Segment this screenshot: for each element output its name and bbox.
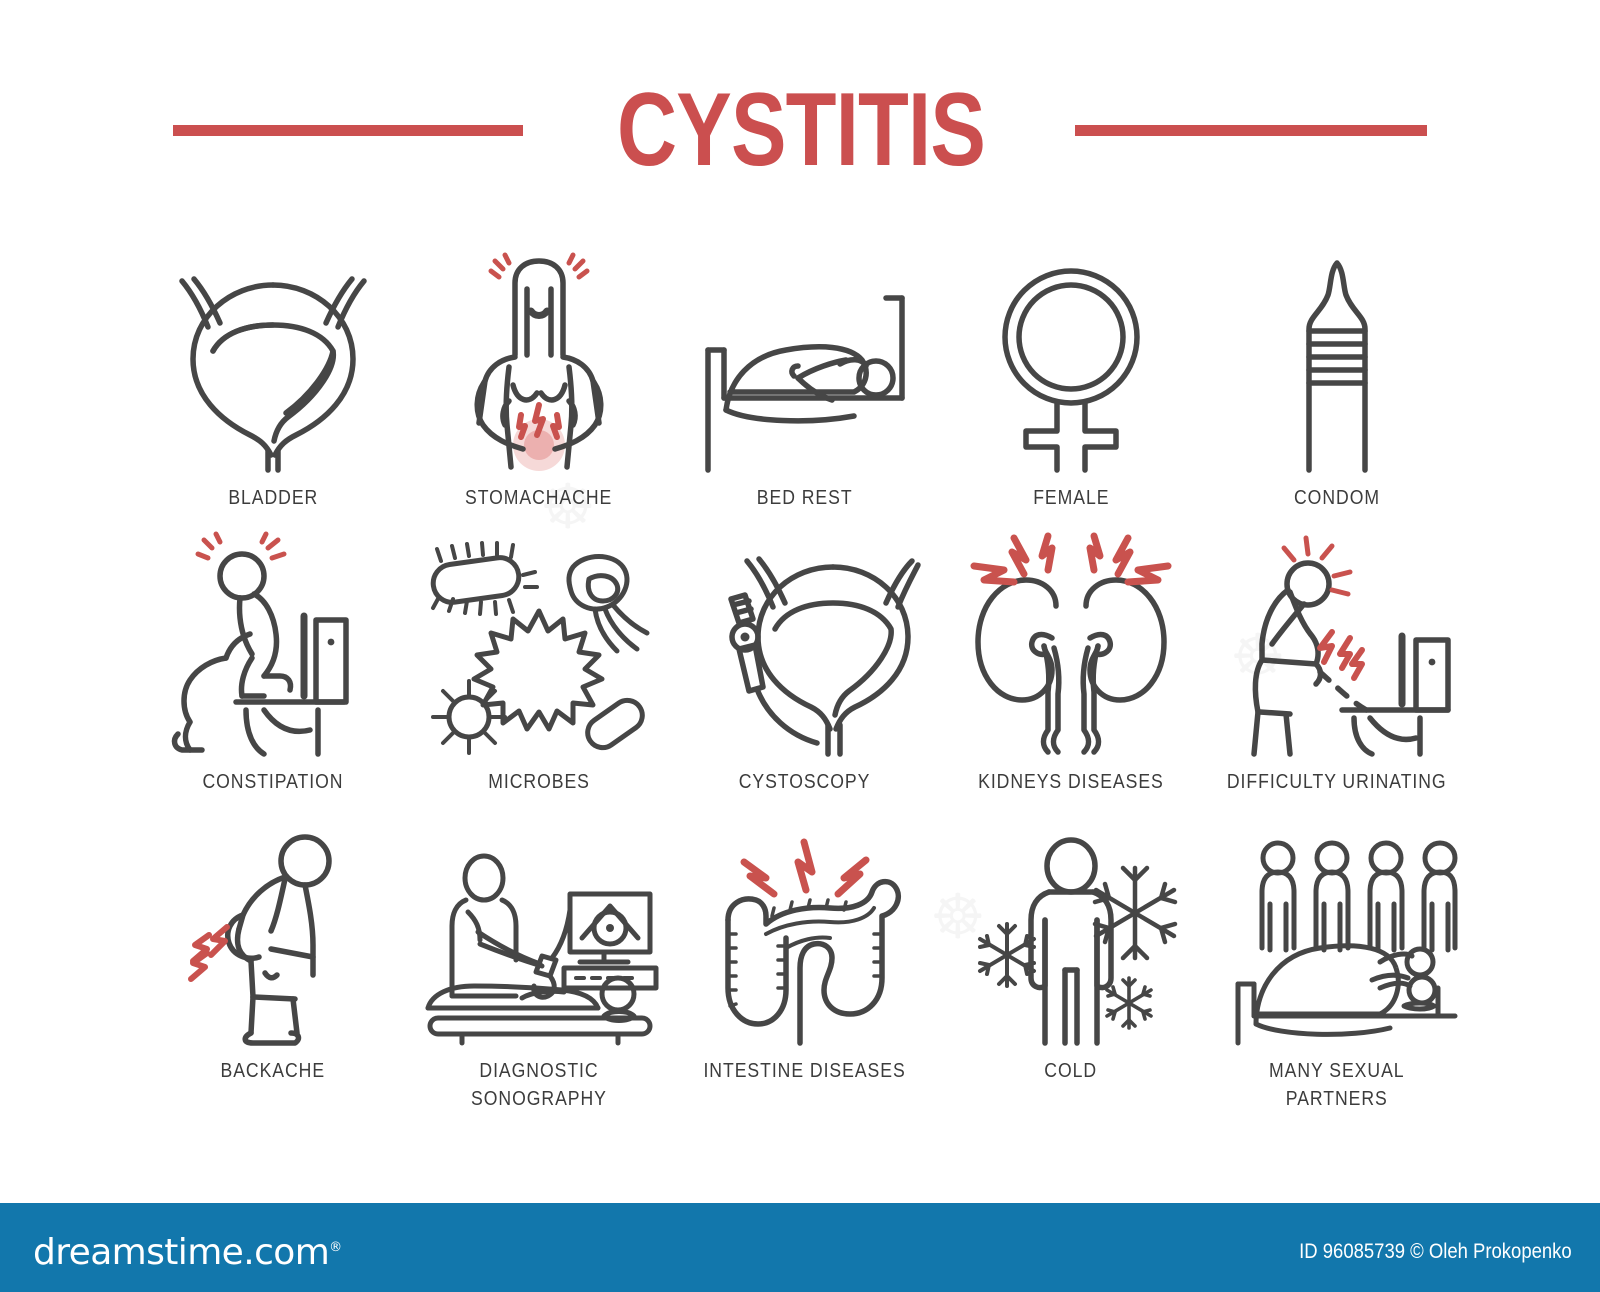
icon-cell-bed-rest[interactable]: BED REST — [672, 255, 938, 512]
cystoscopy-icon — [685, 534, 925, 754]
icon-cell-cystoscopy[interactable]: CYSTOSCOPY — [672, 534, 938, 796]
bladder-icon — [153, 255, 393, 470]
icon-cell-bladder[interactable]: BLADDER — [140, 255, 406, 512]
icon-caption: MANY SEXUAL PARTNERS — [1269, 1057, 1405, 1112]
icon-cell-microbes[interactable]: MICROBES — [406, 534, 672, 796]
icon-cell-kidneys-diseases[interactable]: KIDNEYS DISEASES — [938, 534, 1204, 796]
icon-cell-intestine-diseases[interactable]: INTESTINE DISEASES — [672, 823, 938, 1112]
icon-cell-many-sexual-partners[interactable]: MANY SEXUAL PARTNERS — [1204, 823, 1470, 1112]
image-credit: ID 96085739 © Oleh Prokopenko — [1299, 1240, 1572, 1264]
icon-grid: BLADDER — [140, 255, 1470, 1113]
icon-cell-diagnostic-sonography[interactable]: DIAGNOSTIC SONOGRAPHY — [406, 823, 672, 1112]
icon-caption: MICROBES — [488, 768, 590, 796]
icon-caption: INTESTINE DISEASES — [704, 1057, 906, 1085]
icon-caption: CONSTIPATION — [203, 768, 344, 796]
constipation-toilet-icon — [153, 534, 393, 754]
icon-caption: STOMACHACHE — [465, 484, 612, 512]
page-title: CYSTITIS — [617, 78, 985, 182]
female-venus-symbol-icon — [951, 255, 1191, 470]
icon-caption: CYSTOSCOPY — [739, 768, 871, 796]
icon-cell-cold[interactable]: COLD — [938, 823, 1204, 1112]
icon-caption: COLD — [1045, 1057, 1098, 1085]
icon-row: BLADDER — [140, 255, 1470, 512]
cold-snowflakes-icon — [951, 823, 1191, 1043]
condom-icon — [1217, 255, 1457, 470]
microbes-bacteria-icon — [419, 534, 659, 754]
icon-caption: BED REST — [757, 484, 853, 512]
page-header: CYSTITIS — [0, 78, 1600, 182]
diagnostic-sonography-icon — [419, 823, 659, 1043]
intestine-diseases-icon — [685, 823, 925, 1043]
icon-cell-difficulty-urinating[interactable]: DIFFICULTY URINATING — [1204, 534, 1470, 796]
icon-row: CONSTIPATION — [140, 534, 1470, 796]
title-rule-left — [173, 125, 523, 136]
icon-caption: FEMALE — [1033, 484, 1109, 512]
many-sexual-partners-icon — [1217, 823, 1457, 1043]
icon-cell-constipation[interactable]: CONSTIPATION — [140, 534, 406, 796]
icon-cell-female[interactable]: FEMALE — [938, 255, 1204, 512]
icon-caption: BLADDER — [228, 484, 318, 512]
icon-caption: DIAGNOSTIC SONOGRAPHY — [471, 1057, 607, 1112]
icon-caption: BACKACHE — [221, 1057, 326, 1085]
dreamstime-logo: dreamstime.com® — [33, 1232, 342, 1273]
stomachache-woman-icon — [419, 255, 659, 470]
icon-cell-condom[interactable]: CONDOM — [1204, 255, 1470, 512]
icon-caption: KIDNEYS DISEASES — [978, 768, 1164, 796]
difficulty-urinating-icon — [1217, 534, 1457, 754]
title-rule-right — [1075, 125, 1427, 136]
registered-mark: ® — [329, 1240, 341, 1255]
icon-row: BACKACHE — [140, 823, 1470, 1112]
kidneys-diseases-icon — [951, 534, 1191, 754]
icon-cell-backache[interactable]: BACKACHE — [140, 823, 406, 1112]
backache-icon — [153, 823, 393, 1043]
bed-rest-icon — [685, 255, 925, 470]
icon-caption: CONDOM — [1294, 484, 1380, 512]
icon-caption: DIFFICULTY URINATING — [1227, 768, 1447, 796]
icon-cell-stomachache[interactable]: STOMACHACHE — [406, 255, 672, 512]
